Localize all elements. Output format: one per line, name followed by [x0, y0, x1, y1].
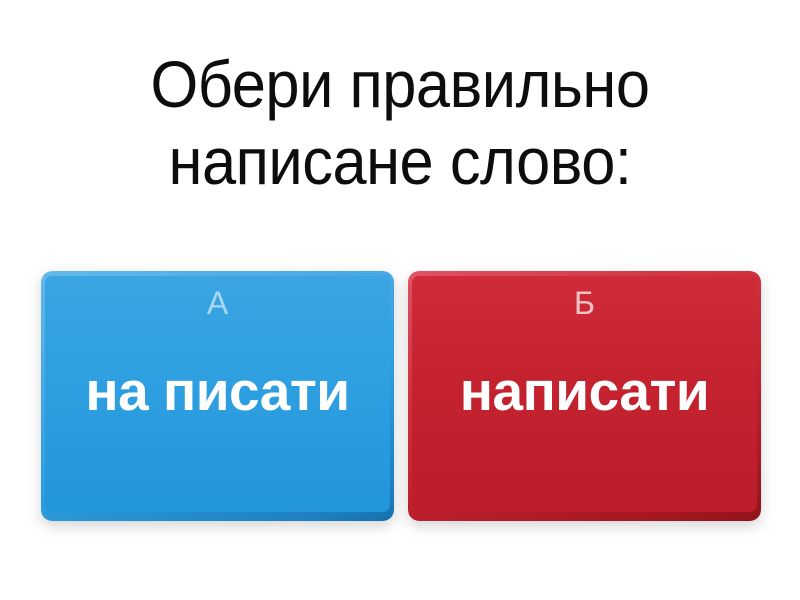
answer-option-b-content: Б написати: [408, 271, 761, 521]
answer-option-a-content: А на писати: [41, 271, 394, 521]
answer-letter-b: Б: [574, 287, 595, 319]
answer-letter-a: А: [207, 287, 228, 319]
quiz-slide: Обери правильно написане слово: А на пис…: [0, 0, 800, 600]
answer-text-a: на писати: [51, 364, 384, 419]
answer-option-b[interactable]: Б написати: [408, 271, 761, 521]
answer-options-list: А на писати Б написати: [41, 271, 761, 521]
answer-option-a[interactable]: А на писати: [41, 271, 394, 521]
answer-text-b: написати: [418, 364, 751, 419]
question-text: Обери правильно написане слово:: [28, 46, 772, 199]
